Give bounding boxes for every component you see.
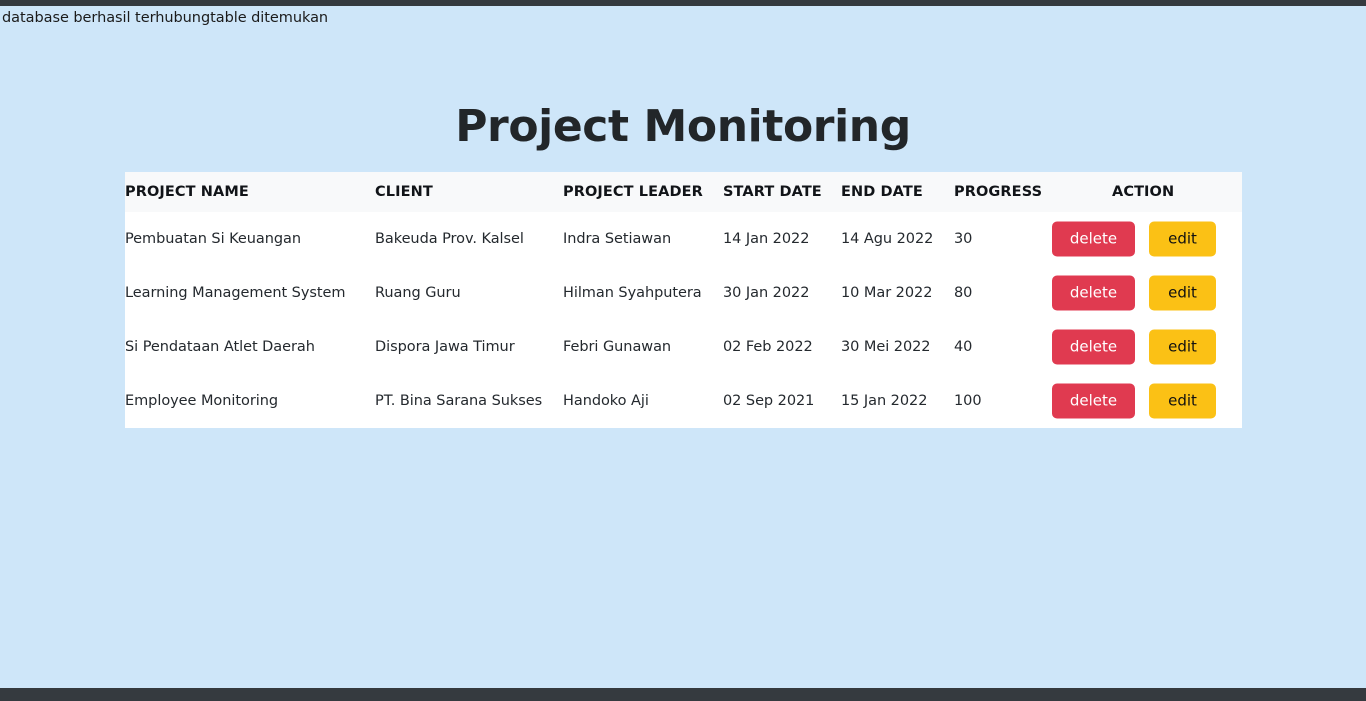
project-table-card: PROJECT NAME CLIENT PROJECT LEADER START… — [125, 172, 1242, 428]
page-content: database berhasil terhubungtable ditemuk… — [0, 6, 1366, 688]
cell-project-name: Learning Management System — [125, 266, 375, 320]
table-row: Learning Management System Ruang Guru Hi… — [125, 266, 1242, 320]
cell-start-date: 30 Jan 2022 — [723, 266, 841, 320]
cell-project-name: Pembuatan Si Keuangan — [125, 212, 375, 266]
action-button-group: delete edit — [1112, 374, 1242, 428]
table-body: Pembuatan Si Keuangan Bakeuda Prov. Kals… — [125, 212, 1242, 428]
action-button-group: delete edit — [1112, 212, 1242, 266]
cell-project-name: Si Pendataan Atlet Daerah — [125, 320, 375, 374]
delete-button[interactable]: delete — [1052, 276, 1135, 311]
column-header-end-date: END DATE — [841, 172, 954, 212]
cell-end-date: 14 Agu 2022 — [841, 212, 954, 266]
column-header-client: CLIENT — [375, 172, 563, 212]
cell-action: delete edit — [1112, 212, 1242, 266]
action-button-group: delete edit — [1112, 266, 1242, 320]
cell-action: delete edit — [1112, 374, 1242, 428]
delete-button[interactable]: delete — [1052, 330, 1135, 365]
cell-project-leader: Indra Setiawan — [563, 212, 723, 266]
edit-button[interactable]: edit — [1149, 330, 1216, 365]
cell-project-leader: Handoko Aji — [563, 374, 723, 428]
cell-start-date: 14 Jan 2022 — [723, 212, 841, 266]
cell-action: delete edit — [1112, 320, 1242, 374]
cell-end-date: 10 Mar 2022 — [841, 266, 954, 320]
table-header-row: PROJECT NAME CLIENT PROJECT LEADER START… — [125, 172, 1242, 212]
cell-client: PT. Bina Sarana Sukses — [375, 374, 563, 428]
cell-start-date: 02 Sep 2021 — [723, 374, 841, 428]
cell-project-leader: Hilman Syahputera — [563, 266, 723, 320]
column-header-progress: PROGRESS — [954, 172, 1112, 212]
edit-button[interactable]: edit — [1149, 384, 1216, 419]
column-header-project-name: PROJECT NAME — [125, 172, 375, 212]
cell-client: Bakeuda Prov. Kalsel — [375, 212, 563, 266]
delete-button[interactable]: delete — [1052, 384, 1135, 419]
delete-button[interactable]: delete — [1052, 222, 1135, 257]
project-monitoring-table: PROJECT NAME CLIENT PROJECT LEADER START… — [125, 172, 1242, 428]
cell-end-date: 15 Jan 2022 — [841, 374, 954, 428]
cell-project-name: Employee Monitoring — [125, 374, 375, 428]
edit-button[interactable]: edit — [1149, 222, 1216, 257]
cell-action: delete edit — [1112, 266, 1242, 320]
column-header-action: ACTION — [1112, 172, 1242, 212]
column-header-start-date: START DATE — [723, 172, 841, 212]
cell-start-date: 02 Feb 2022 — [723, 320, 841, 374]
table-row: Employee Monitoring PT. Bina Sarana Suks… — [125, 374, 1242, 428]
database-status-message: database berhasil terhubungtable ditemuk… — [2, 10, 328, 26]
cell-client: Dispora Jawa Timur — [375, 320, 563, 374]
cell-end-date: 30 Mei 2022 — [841, 320, 954, 374]
table-row: Pembuatan Si Keuangan Bakeuda Prov. Kals… — [125, 212, 1242, 266]
page-title: Project Monitoring — [0, 101, 1366, 152]
cell-project-leader: Febri Gunawan — [563, 320, 723, 374]
column-header-project-leader: PROJECT LEADER — [563, 172, 723, 212]
table-header: PROJECT NAME CLIENT PROJECT LEADER START… — [125, 172, 1242, 212]
browser-chrome-bottom-bar — [0, 688, 1366, 701]
cell-client: Ruang Guru — [375, 266, 563, 320]
action-button-group: delete edit — [1112, 320, 1242, 374]
edit-button[interactable]: edit — [1149, 276, 1216, 311]
table-row: Si Pendataan Atlet Daerah Dispora Jawa T… — [125, 320, 1242, 374]
